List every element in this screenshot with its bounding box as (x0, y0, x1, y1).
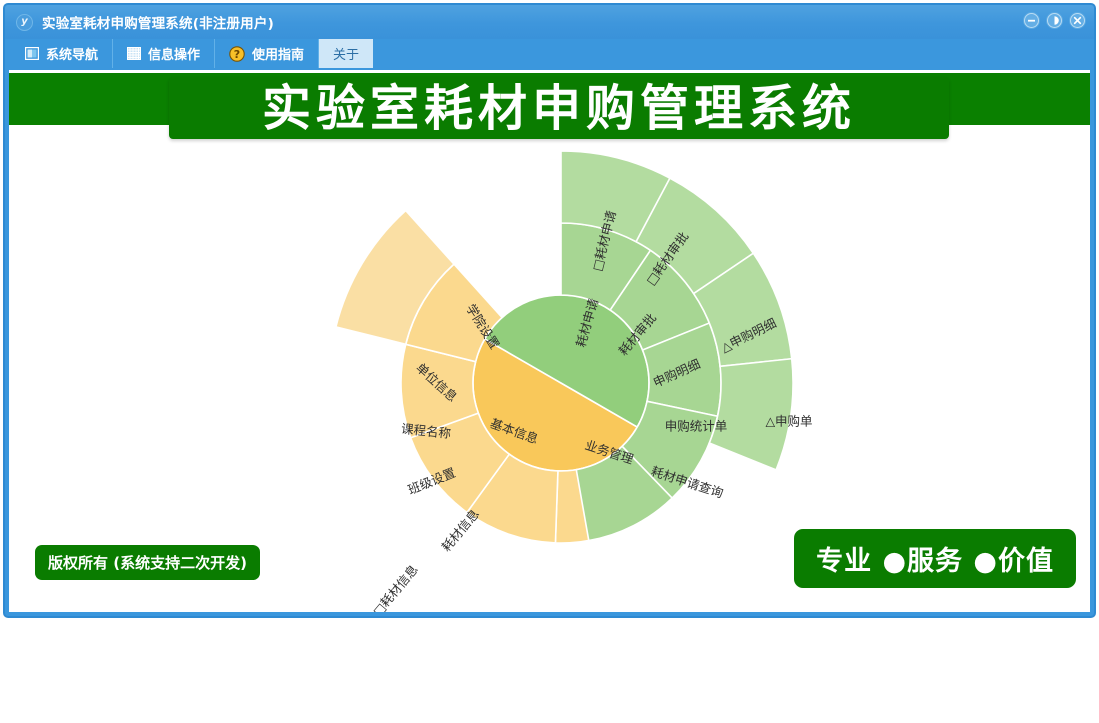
tab-label: 关于 (333, 44, 359, 63)
content-area: 基本信息业务管理学院设置单位信息课程名称班级设置耗材信息□耗材信息耗材申请耗材审… (9, 70, 1090, 612)
banner-title-box: 实验室耗材申购管理系统 (169, 77, 949, 139)
minimize-icon (1024, 13, 1039, 28)
application-window: y 实验室耗材申购管理系统(非注册用户) (3, 3, 1096, 618)
banner-title-text: 实验室耗材申购管理系统 (262, 84, 856, 133)
copyright-badge: 版权所有 (系统支持二次开发) (35, 545, 260, 580)
tab-about[interactable]: 关于 (319, 39, 373, 68)
tab-user-guide[interactable]: ? 使用指南 (215, 39, 319, 68)
tab-label: 使用指南 (252, 44, 304, 63)
app-logo-icon: y (16, 14, 33, 31)
sunburst-segment-label: □耗材信息 (370, 562, 421, 612)
question-help-icon: ? (229, 46, 245, 62)
maximize-icon (1047, 13, 1062, 28)
svg-text:?: ? (234, 48, 240, 61)
tab-label: 信息操作 (148, 44, 200, 63)
maximize-button[interactable] (1046, 12, 1063, 29)
sunburst-segment-label: 申购统计单 (665, 419, 728, 434)
window-controls (1023, 12, 1086, 29)
title-bar: y 实验室耗材申购管理系统(非注册用户) (5, 5, 1094, 39)
minimize-button[interactable] (1023, 12, 1040, 29)
tab-strip: 系统导航 信息操作 ? 使用指南 (5, 39, 1094, 70)
window-title: 实验室耗材申购管理系统(非注册用户) (42, 12, 274, 32)
close-icon (1070, 13, 1085, 28)
sunburst-segment-label: 耗材信息 (438, 506, 482, 554)
grid-icon (127, 47, 141, 60)
sunburst-segment-label: △申购单 (765, 414, 812, 429)
tab-information-operations[interactable]: 信息操作 (113, 39, 215, 68)
tab-label: 系统导航 (46, 44, 98, 63)
slogan-badge: 专业 ●服务 ●价值 (794, 529, 1076, 588)
window-icon (25, 47, 39, 60)
close-button[interactable] (1069, 12, 1086, 29)
tab-system-navigation[interactable]: 系统导航 (11, 39, 113, 68)
